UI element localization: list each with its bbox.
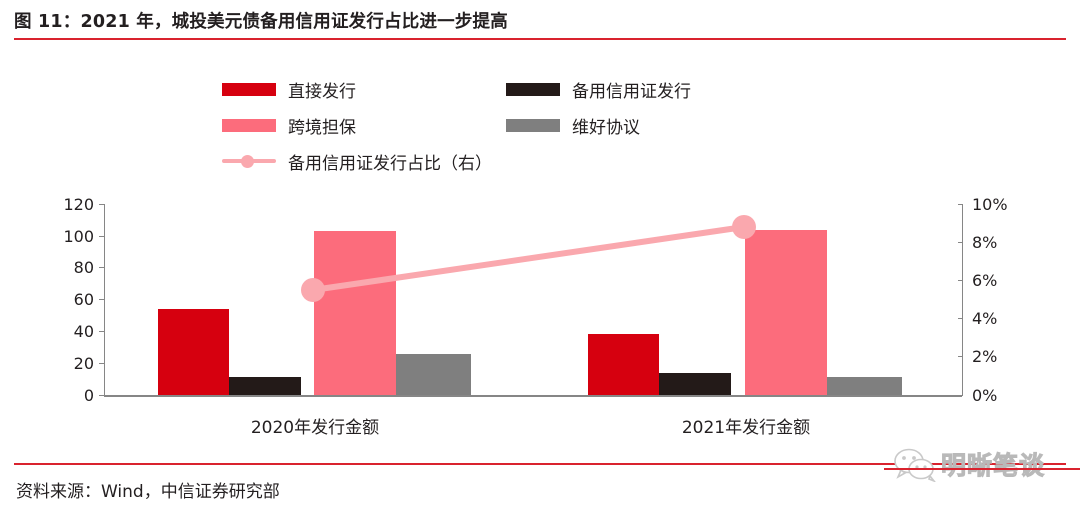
ratio-line-path — [313, 227, 744, 290]
source-note: 资料来源：Wind，中信证券研究部 — [16, 477, 280, 502]
figure-panel: 图 11：2021 年，城投美元债备用信用证发行占比进一步提高 直接发行 备用信… — [0, 0, 1080, 513]
ratio-point-2021[interactable] — [732, 215, 756, 239]
wechat-icon — [893, 448, 937, 482]
chart-plot-area: 120 100 80 60 40 20 0 10% 8% 6% 4% 2% 0% — [0, 0, 1080, 460]
watermark-strikethrough — [884, 468, 1080, 470]
ratio-point-2020[interactable] — [301, 278, 325, 302]
x-axis-category-2021: 2021年发行金额 — [596, 413, 896, 438]
watermark-text: 明晰笔谈 — [941, 453, 1045, 478]
watermark: 明晰笔谈 — [893, 437, 1073, 493]
x-axis-category-2020: 2020年发行金额 — [165, 413, 465, 438]
ratio-line-series — [0, 0, 1080, 460]
